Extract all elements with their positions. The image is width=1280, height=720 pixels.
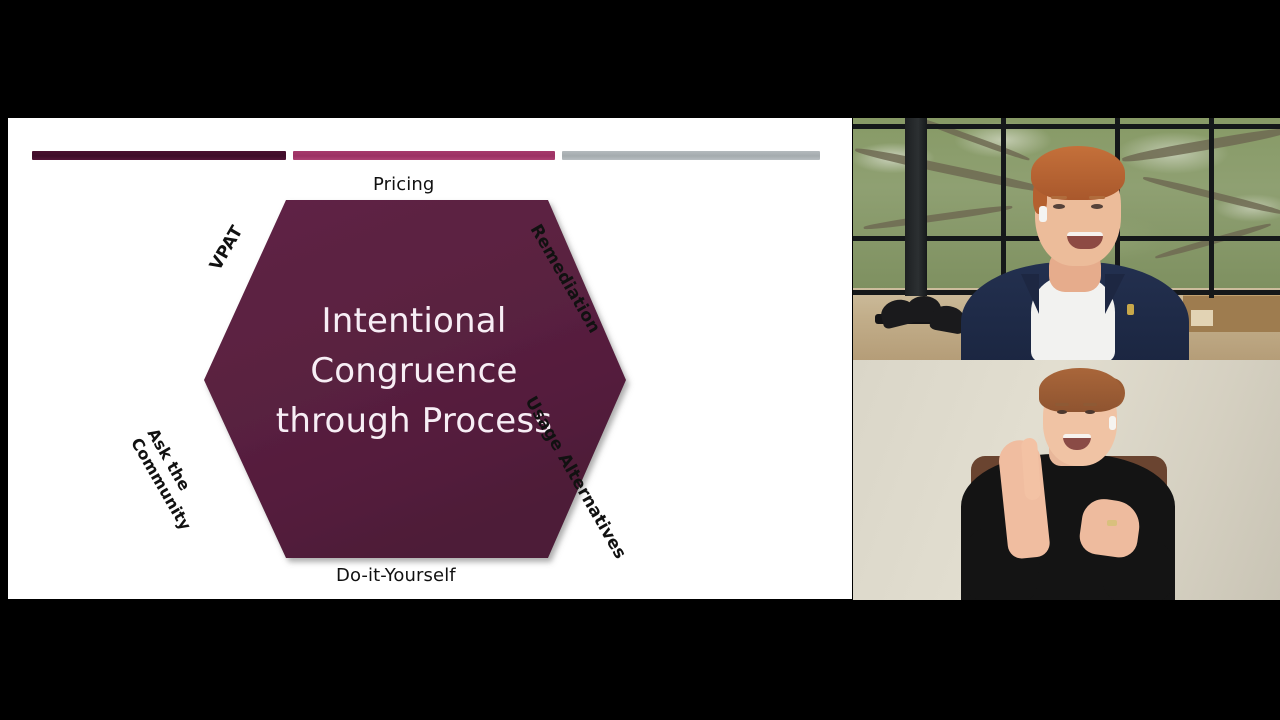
tree-branch xyxy=(854,145,1052,195)
presenter-eyebrow-right xyxy=(1089,196,1105,199)
interpreter-eye-left xyxy=(1057,410,1067,414)
edge-label-pricing: Pricing xyxy=(373,174,434,195)
letterbox-top xyxy=(0,0,1280,118)
edge-label-do-it-yourself: Do-it-Yourself xyxy=(336,565,456,586)
presenter-lapel-left xyxy=(1021,274,1039,314)
background-chairs xyxy=(881,296,971,352)
presenter-eyebrow-left xyxy=(1051,196,1067,199)
hexagon-diagram: Intentional Congruence through Process P… xyxy=(8,118,852,599)
presenter-lapel-pin xyxy=(1127,304,1134,315)
interpreter-earbud-icon xyxy=(1109,416,1116,430)
presenter-eye-left xyxy=(1053,204,1065,209)
video-tile-presenter[interactable] xyxy=(853,118,1280,360)
video-tile-interpreter[interactable] xyxy=(853,360,1280,600)
tree-branch xyxy=(916,118,1031,162)
presenter-eye-right xyxy=(1091,204,1103,209)
interpreter-eyebrow-right xyxy=(1083,403,1097,406)
interpreter-eyebrow-left xyxy=(1055,403,1069,406)
presenter-lapel-right xyxy=(1105,274,1125,314)
video-panel xyxy=(853,118,1280,600)
presenter-hair xyxy=(1031,146,1125,200)
tree-branch xyxy=(863,204,1013,232)
tree-branch xyxy=(1142,175,1280,217)
screen-root: Intentional Congruence through Process P… xyxy=(0,0,1280,720)
tree-branch xyxy=(1121,125,1280,164)
interpreter-eye-right xyxy=(1085,410,1095,414)
letterbox-bottom xyxy=(0,600,1280,720)
background-credenza xyxy=(1183,294,1280,332)
shared-slide[interactable]: Intentional Congruence through Process P… xyxy=(8,118,852,599)
tree-branch xyxy=(1154,222,1271,261)
interpreter-hair xyxy=(1039,368,1121,412)
presenter-earbud-icon xyxy=(1039,206,1047,222)
interpreter-ring xyxy=(1107,520,1117,526)
